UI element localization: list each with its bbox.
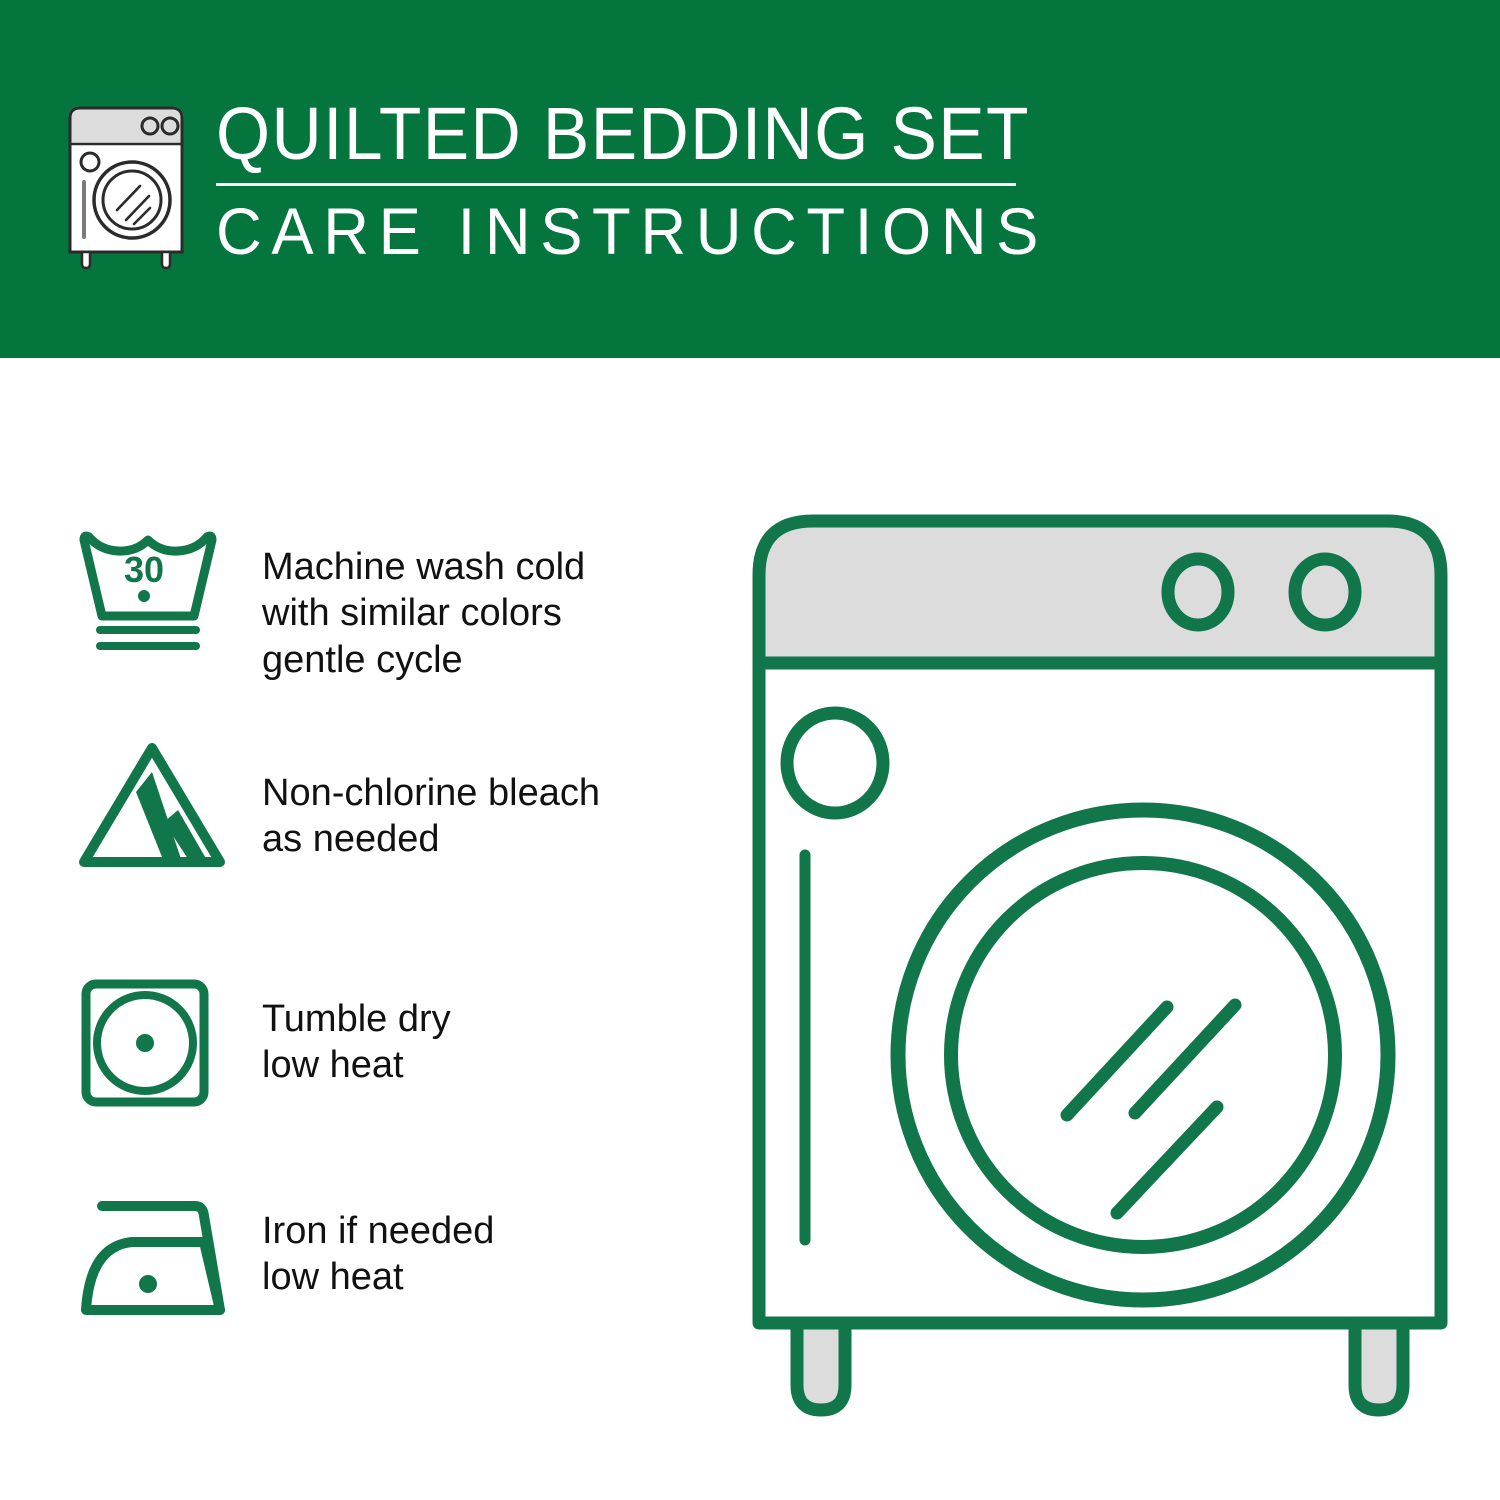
care-text-bleach: Non-chlorine bleach as needed (250, 730, 600, 863)
non-chlorine-bleach-triangle-icon (70, 730, 250, 880)
header-content: QUILTED BEDDING SET CARE INSTRUCTIONS (62, 96, 1083, 270)
care-text-tumble-dry: Tumble dry low heat (250, 968, 451, 1089)
care-row-tumble-dry: Tumble dry low heat (70, 968, 720, 1118)
washing-machine-icon (62, 102, 190, 270)
page-subtitle: CARE INSTRUCTIONS (216, 198, 1048, 264)
care-text-wash: Machine wash cold with similar colors ge… (250, 520, 585, 683)
care-row-bleach: Non-chlorine bleach as needed (70, 730, 720, 880)
page-title: QUILTED BEDDING SET (216, 98, 1031, 169)
care-row-wash: 30 Machine wash cold with similar colors… (70, 520, 720, 683)
title-divider (216, 183, 1016, 186)
header-titles: QUILTED BEDDING SET CARE INSTRUCTIONS (216, 96, 1083, 264)
care-instructions-page: QUILTED BEDDING SET CARE INSTRUCTIONS 30 (0, 0, 1500, 1500)
header-band: QUILTED BEDDING SET CARE INSTRUCTIONS (0, 0, 1500, 358)
wash-tub-30-gentle-icon: 30 (70, 520, 250, 660)
tumble-dry-low-icon (70, 968, 250, 1118)
front-load-washing-machine-illustration (745, 495, 1455, 1425)
care-text-iron: Iron if needed low heat (250, 1188, 494, 1301)
care-row-iron: Iron if needed low heat (70, 1188, 720, 1328)
iron-low-heat-icon (70, 1188, 250, 1328)
svg-text:30: 30 (124, 549, 164, 590)
